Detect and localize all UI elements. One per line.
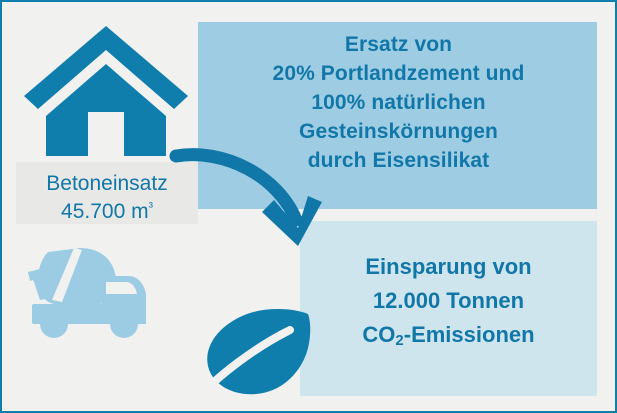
savings-line-2: 12.000 Tonnen bbox=[302, 284, 595, 318]
house-icon bbox=[20, 24, 192, 156]
co2-prefix: CO bbox=[362, 322, 395, 347]
infographic-container: Betoneinsatz 45.700 m³ bbox=[0, 0, 617, 413]
leaf-icon bbox=[198, 304, 316, 400]
cement-mixer-truck-icon bbox=[18, 242, 158, 342]
savings-line-3: CO2-Emissionen bbox=[302, 318, 595, 355]
savings-line-1: Einsparung von bbox=[302, 250, 595, 284]
concrete-usage-number: 45.700 m bbox=[61, 200, 149, 223]
replacement-line-3: 100% natürlichen bbox=[202, 88, 595, 117]
replacement-line-5: durch Eisensilikat bbox=[202, 146, 595, 175]
replacement-line-1: Ersatz von bbox=[202, 30, 595, 59]
cubic-meter-exponent: ³ bbox=[149, 199, 153, 214]
co2-subscript: 2 bbox=[395, 332, 403, 349]
replacement-line-2: 20% Portlandzement und bbox=[202, 59, 595, 88]
co2-suffix: -Emissionen bbox=[404, 322, 535, 347]
savings-text-block: Einsparung von 12.000 Tonnen CO2-Emissio… bbox=[302, 250, 595, 355]
replacement-text-block: Ersatz von 20% Portlandzement und 100% n… bbox=[202, 30, 595, 175]
replacement-line-4: Gesteinskörnungen bbox=[202, 117, 595, 146]
